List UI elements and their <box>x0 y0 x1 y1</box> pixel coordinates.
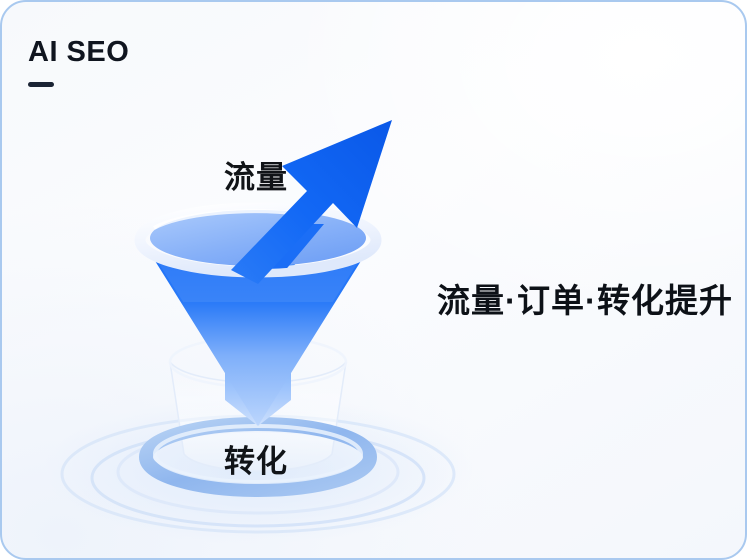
funnel-label-conversion: 转化 <box>224 436 288 481</box>
seo-funnel-card: AI SEO <box>0 0 747 560</box>
headline-text: 流量·订单·转化提升 <box>437 274 733 322</box>
funnel-label-traffic: 流量 <box>224 152 288 197</box>
